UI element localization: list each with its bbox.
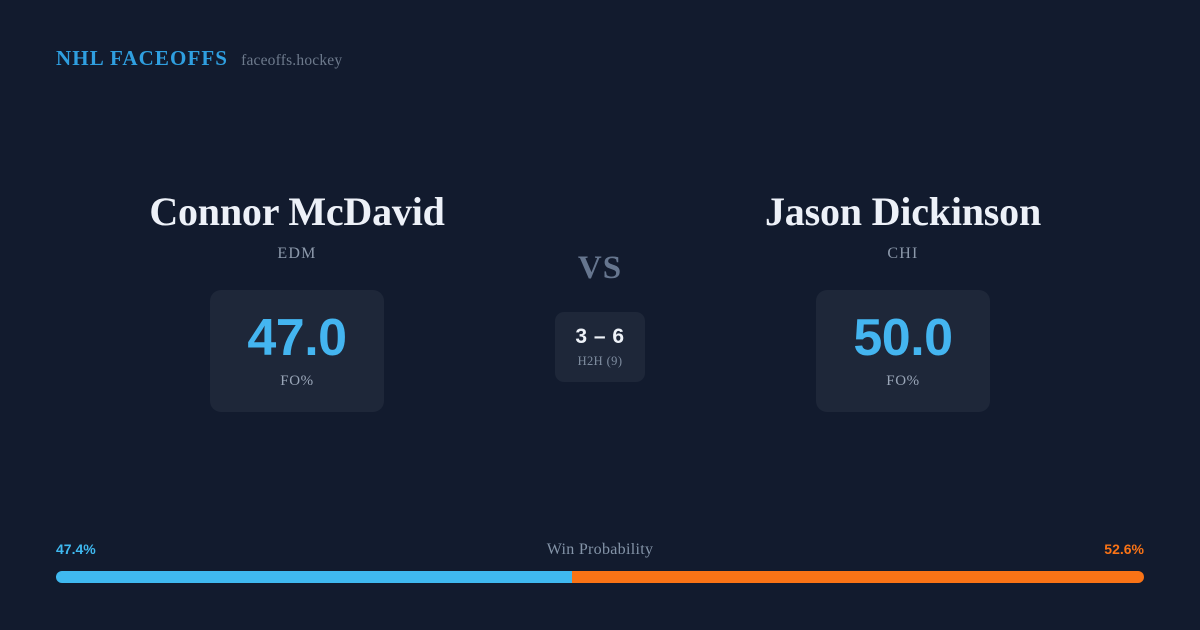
brand-header: NHL FACEOFFS faceoffs.hockey bbox=[56, 46, 342, 71]
player-away-faceoff-value: 50.0 bbox=[853, 312, 952, 364]
win-probability-bar bbox=[56, 571, 1144, 583]
brand-title: NHL FACEOFFS bbox=[56, 46, 228, 71]
win-probability-home-value: 47.4% bbox=[56, 541, 96, 557]
versus-label: VS bbox=[578, 252, 622, 285]
player-home-faceoff-label: FO% bbox=[280, 373, 313, 390]
brand-domain: faceoffs.hockey bbox=[241, 52, 342, 70]
win-probability-bar-away bbox=[572, 571, 1144, 583]
win-probability-bar-home bbox=[56, 571, 572, 583]
player-home-stat-card: 47.0 FO% bbox=[210, 290, 384, 412]
win-probability-labels: 47.4% Win Probability 52.6% bbox=[56, 541, 1144, 561]
matchup-section: Connor McDavid EDM 47.0 FO% VS 3 – 6 H2H… bbox=[0, 190, 1200, 412]
win-probability-away-value: 52.6% bbox=[1104, 541, 1144, 557]
head-to-head-score: 3 – 6 bbox=[575, 326, 624, 347]
versus-column: VS 3 – 6 H2H (9) bbox=[530, 190, 670, 382]
player-away: Jason Dickinson CHI 50.0 FO% bbox=[670, 190, 1136, 412]
head-to-head-label: H2H (9) bbox=[578, 355, 623, 368]
player-home-team: EDM bbox=[277, 245, 316, 263]
player-home-faceoff-value: 47.0 bbox=[247, 312, 346, 364]
player-home: Connor McDavid EDM 47.0 FO% bbox=[64, 190, 530, 412]
head-to-head-card: 3 – 6 H2H (9) bbox=[555, 312, 645, 382]
player-away-team: CHI bbox=[887, 245, 918, 263]
win-probability-title: Win Probability bbox=[547, 541, 654, 559]
win-probability-section: 47.4% Win Probability 52.6% bbox=[56, 541, 1144, 583]
player-away-name: Jason Dickinson bbox=[765, 190, 1041, 235]
player-away-faceoff-label: FO% bbox=[886, 373, 919, 390]
player-home-name: Connor McDavid bbox=[149, 190, 444, 235]
player-away-stat-card: 50.0 FO% bbox=[816, 290, 990, 412]
